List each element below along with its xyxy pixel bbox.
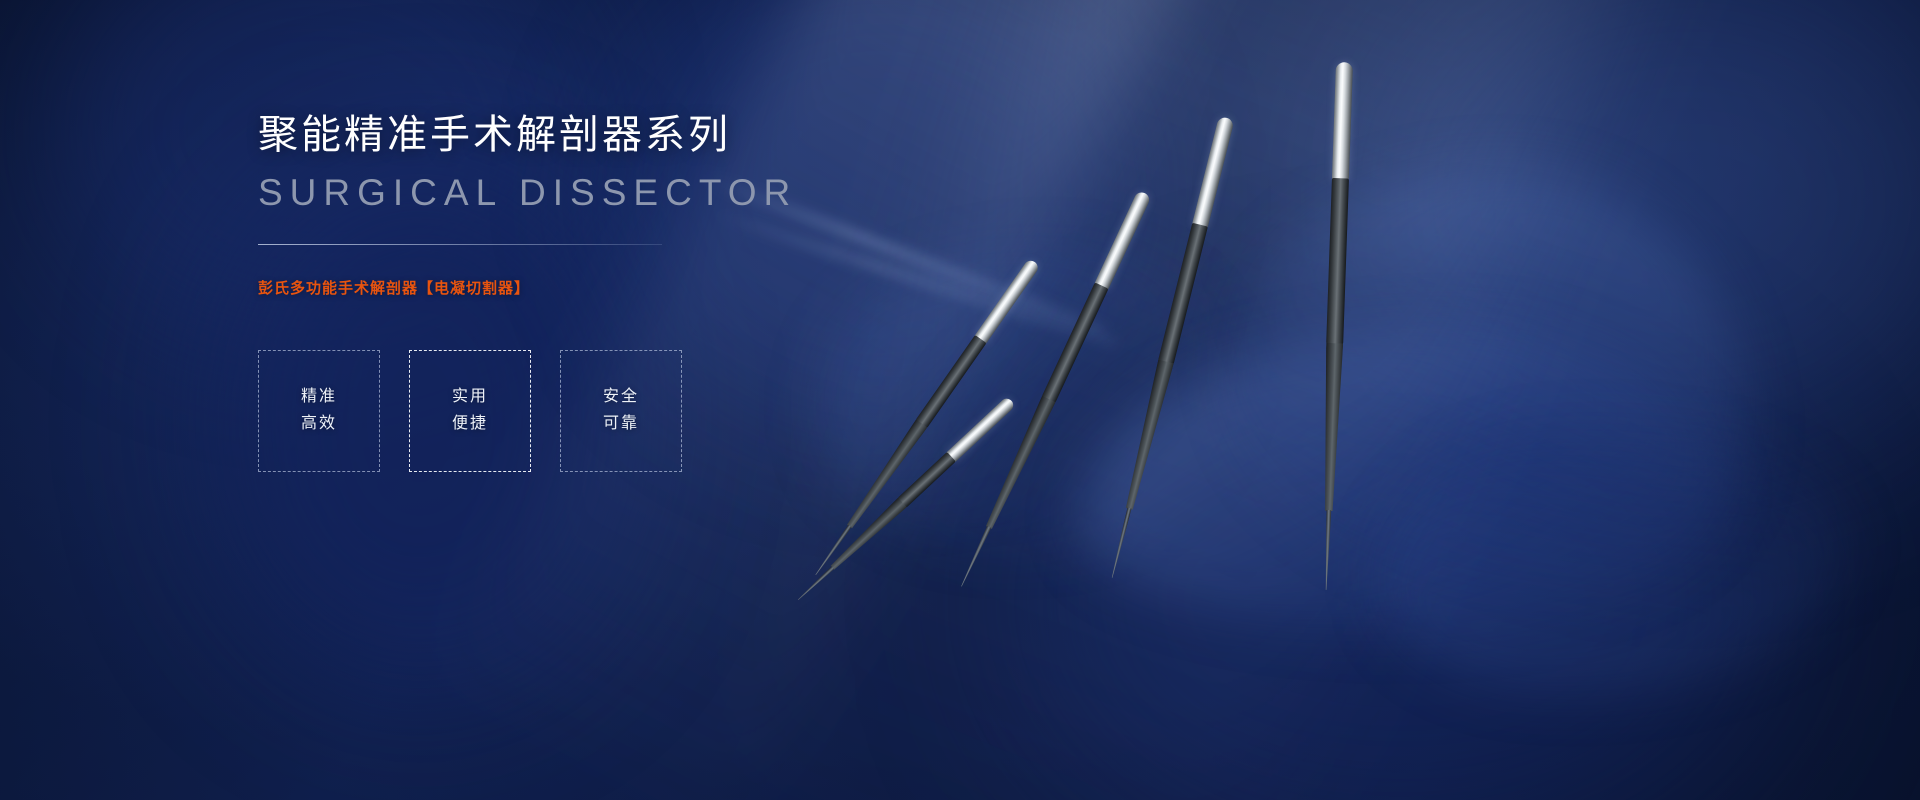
feature-line-2: 便捷 <box>452 416 488 432</box>
instrument-taper <box>828 498 907 573</box>
feature-box-2[interactable]: 实用 便捷 <box>409 350 531 472</box>
divider <box>258 244 662 245</box>
feature-line-1: 安全 <box>603 389 639 405</box>
page-subtitle-english: SURGICAL DISSECTOR <box>258 173 1018 214</box>
instrument-taper <box>1320 343 1343 511</box>
product-name-highlight: 彭氏多功能手术解剖器【电凝切割器】 <box>258 277 1018 298</box>
feature-box-list: 精准 高效 实用 便捷 安全 可靠 <box>258 350 1018 472</box>
product-hero-banner: 聚能精准手术解剖器系列 SURGICAL DISSECTOR 彭氏多功能手术解剖… <box>0 0 1920 800</box>
instrument-shaft <box>1326 178 1349 344</box>
instrument-needle-tip <box>797 566 835 602</box>
instrument-needle-tip <box>1324 510 1332 590</box>
instrument-shaft <box>1042 282 1109 403</box>
instrument-handle <box>1192 116 1235 229</box>
feature-line-2: 高效 <box>301 416 337 432</box>
instrument-shaft <box>1158 223 1208 365</box>
page-title: 聚能精准手术解剖器系列 <box>258 112 1018 159</box>
feature-line-2: 可靠 <box>603 416 639 432</box>
feature-box-3[interactable]: 安全 可靠 <box>560 350 682 472</box>
instrument-handle <box>1332 62 1353 181</box>
banner-content: 聚能精准手术解剖器系列 SURGICAL DISSECTOR 彭氏多功能手术解剖… <box>258 112 1018 472</box>
feature-box-1[interactable]: 精准 高效 <box>258 350 380 472</box>
instrument-handle <box>1094 190 1152 291</box>
instrument-needle-tip <box>1110 507 1132 578</box>
instrument-needle-tip <box>959 526 991 588</box>
feature-line-1: 实用 <box>452 389 488 405</box>
feature-line-1: 精准 <box>301 389 337 405</box>
instrument-taper <box>1122 360 1174 511</box>
